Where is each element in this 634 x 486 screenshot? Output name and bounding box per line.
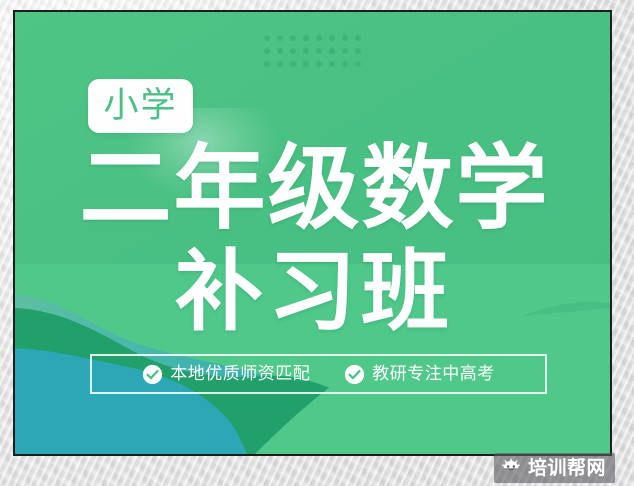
grid-dot bbox=[303, 61, 309, 67]
feature-item: 本地优质师资匹配 bbox=[142, 364, 310, 385]
grid-dot bbox=[277, 61, 283, 67]
headline-line-1: 二年级数学 bbox=[15, 140, 612, 238]
grid-dot bbox=[329, 35, 335, 41]
feature-item: 教研专注中高考 bbox=[344, 364, 495, 385]
grid-dot bbox=[264, 61, 270, 67]
grid-dot bbox=[290, 61, 296, 67]
dot-grid-decoration bbox=[262, 32, 366, 71]
grade-level-badge: 小学 bbox=[88, 79, 193, 133]
sun-face-icon bbox=[501, 458, 521, 478]
grade-level-badge-label: 小学 bbox=[103, 89, 177, 124]
grid-dot bbox=[316, 61, 322, 67]
grid-dot bbox=[277, 48, 283, 54]
grid-dot bbox=[329, 61, 335, 67]
grid-dot bbox=[355, 48, 361, 54]
feature-label: 教研专注中高考 bbox=[372, 365, 495, 384]
grid-dot bbox=[342, 35, 348, 41]
grid-dot bbox=[277, 35, 283, 41]
check-circle-icon bbox=[142, 364, 163, 385]
grid-dot bbox=[316, 48, 322, 54]
grid-dot bbox=[264, 35, 270, 41]
page-root: 小学 二年级数学 补习班 本地优质师资匹配 教研专注中高考 bbox=[0, 0, 634, 486]
poster-card: 小学 二年级数学 补习班 本地优质师资匹配 教研专注中高考 bbox=[13, 10, 612, 456]
grid-dot bbox=[303, 35, 309, 41]
grid-dot bbox=[355, 35, 361, 41]
poster-headline: 二年级数学 补习班 bbox=[15, 140, 612, 340]
grid-dot bbox=[329, 48, 335, 54]
grid-dot bbox=[316, 35, 322, 41]
grid-dot bbox=[264, 48, 270, 54]
grid-dot bbox=[342, 48, 348, 54]
grid-dot bbox=[355, 61, 361, 67]
check-circle-icon bbox=[344, 364, 365, 385]
grid-dot bbox=[342, 61, 348, 67]
headline-line-2: 补习班 bbox=[15, 244, 612, 340]
feature-list: 本地优质师资匹配 教研专注中高考 bbox=[90, 354, 547, 394]
feature-label: 本地优质师资匹配 bbox=[170, 365, 310, 384]
grid-dot bbox=[290, 48, 296, 54]
grid-dot bbox=[290, 35, 296, 41]
watermark: 培训帮网 bbox=[494, 453, 615, 483]
watermark-text: 培训帮网 bbox=[528, 458, 606, 479]
grid-dot bbox=[303, 48, 309, 54]
